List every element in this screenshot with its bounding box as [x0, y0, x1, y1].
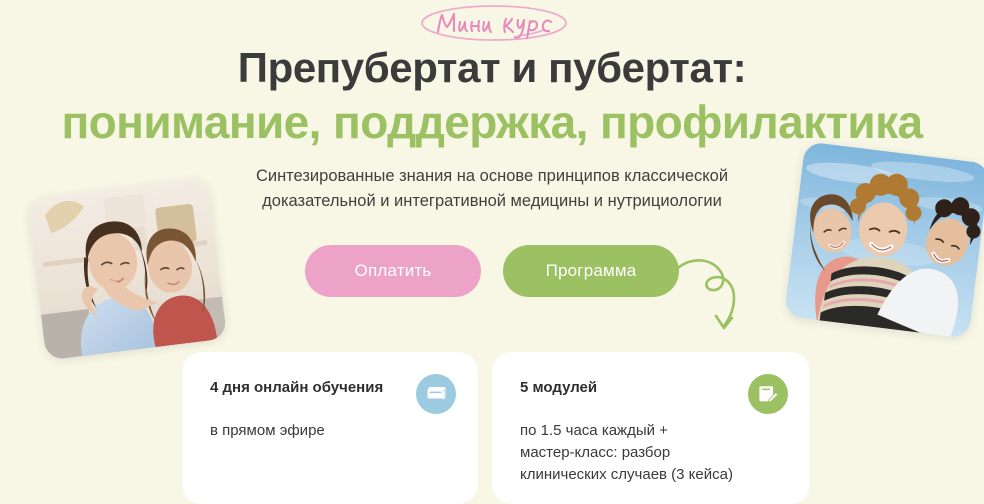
note-pencil-icon [757, 383, 779, 405]
feature-card-days-heading: 4 дня онлайн обучения [210, 378, 415, 398]
feature-card-modules-body: по 1.5 часа каждый + мастер-класс: разбо… [520, 420, 752, 486]
landing-hero: Препубертат и пубертат: понимание, подде… [0, 0, 984, 504]
photo-three-teens-sky [784, 141, 984, 338]
photo-mother-and-daughter [27, 178, 227, 361]
calendar-icon-badge [416, 374, 456, 414]
handwritten-ellipse-icon [418, 2, 570, 46]
pay-button[interactable]: Оплатить [305, 245, 481, 297]
photo-three-teens-sky-image [784, 141, 984, 338]
mini-course-badge [418, 2, 570, 46]
note-pencil-icon-badge [748, 374, 788, 414]
subtitle-line2: доказательной и интегративной медицины и… [192, 189, 792, 214]
photo-mother-and-daughter-image [27, 178, 227, 361]
page-title-line1: Препубертат и пубертат: [0, 44, 984, 92]
program-button[interactable]: Программа [503, 245, 679, 297]
subtitle-line1: Синтезированные знания на основе принцип… [192, 164, 792, 189]
page-subtitle: Синтезированные знания на основе принцип… [192, 164, 792, 214]
calendar-icon [425, 383, 447, 405]
feature-card-days: 4 дня онлайн обучения в прямом эфире [182, 352, 478, 504]
page-title-line2: понимание, поддержка, профилактика [0, 96, 984, 148]
feature-card-days-body: в прямом эфире [210, 420, 442, 442]
curly-arrow-down-icon [672, 250, 764, 342]
feature-card-modules: 5 модулей по 1.5 часа каждый + мастер-кл… [492, 352, 810, 504]
feature-card-modules-heading: 5 модулей [520, 378, 725, 398]
curly-arrow-decoration [672, 250, 764, 342]
